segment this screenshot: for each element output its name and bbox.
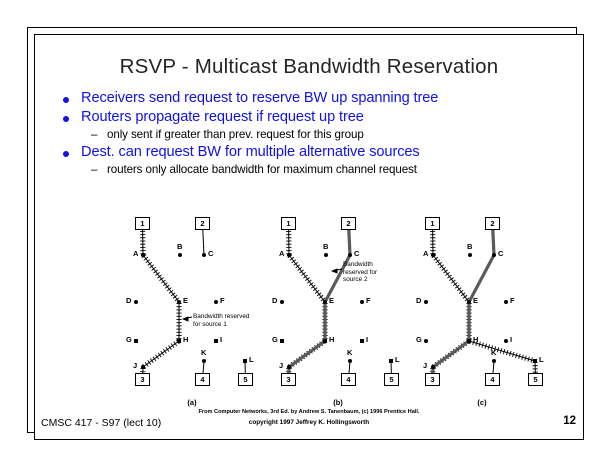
bullet-dot-icon <box>63 116 69 122</box>
page-title: RSVP - Multicast Bandwidth Reservation <box>35 55 583 79</box>
router-node <box>468 253 472 257</box>
router-label: D <box>416 296 421 305</box>
router-node <box>467 300 471 304</box>
bullet-subitem-2: – routers only allocate bandwidth for ma… <box>49 163 577 176</box>
network-diagram-a: (a) 12345ABCDEFGHIJKLBandwidth reservedf… <box>117 213 267 405</box>
figure-attribution: From Computer Networks, 3rd Ed. by Andre… <box>35 409 583 415</box>
callout-arrow-icon <box>117 213 267 405</box>
host-node: 2 <box>485 217 500 230</box>
router-label: H <box>473 335 478 344</box>
host-node: 5 <box>528 373 543 386</box>
bullet-subitem-1: – only sent if greater than prev. reques… <box>49 128 577 141</box>
router-node <box>492 253 496 257</box>
router-node <box>431 253 435 257</box>
bullet-item-3: Dest. can request BW for multiple altern… <box>49 144 577 160</box>
router-label: C <box>498 249 503 258</box>
router-label: I <box>510 335 512 344</box>
bullet-list: Receivers send request to reserve BW up … <box>49 90 577 179</box>
bullet-item-1: Receivers send request to reserve BW up … <box>49 90 577 106</box>
bullet-text: only sent if greater than prev. request … <box>107 128 364 141</box>
bullet-text: Receivers send request to reserve BW up … <box>81 90 438 106</box>
host-node: 3 <box>425 373 440 386</box>
slide-frame: RSVP - Multicast Bandwidth Reservation R… <box>34 34 584 440</box>
host-node: 1 <box>425 217 440 230</box>
router-label: G <box>416 335 422 344</box>
router-label: E <box>473 296 478 305</box>
dash-icon: – <box>91 163 97 176</box>
router-node <box>431 365 435 369</box>
router-label: J <box>423 361 427 370</box>
network-diagram-c: (c) 12345ABCDEFGHIJKL <box>407 213 557 405</box>
router-label: L <box>539 355 544 364</box>
dash-icon: – <box>91 128 97 141</box>
router-label: K <box>491 348 496 357</box>
router-node <box>533 359 537 363</box>
router-node <box>504 339 508 343</box>
figure-area: (a) 12345ABCDEFGHIJKLBandwidth reservedf… <box>35 213 583 405</box>
bullet-dot-icon <box>63 151 69 157</box>
router-node <box>424 339 428 343</box>
router-label: F <box>510 296 515 305</box>
course-label: CMSC 417 - S97 (lect 10) <box>41 417 161 429</box>
router-node <box>424 300 428 304</box>
host-node: 4 <box>485 373 500 386</box>
router-node <box>492 359 496 363</box>
router-node <box>504 300 508 304</box>
bullet-text: Routers propagate request if request up … <box>81 109 364 125</box>
router-label: A <box>423 249 428 258</box>
bullet-dot-icon <box>63 97 69 103</box>
bullet-text: routers only allocate bandwidth for maxi… <box>107 163 417 176</box>
router-label: B <box>467 242 472 251</box>
bullet-item-2: Routers propagate request if request up … <box>49 109 577 125</box>
bullet-text: Dest. can request BW for multiple altern… <box>81 144 420 160</box>
callout-arrow-icon <box>263 213 413 405</box>
router-node <box>467 339 471 343</box>
network-diagram-b: (b) 12345ABCDEFGHIJKLBandwidthreserved f… <box>263 213 413 405</box>
page-number: 12 <box>563 415 576 427</box>
